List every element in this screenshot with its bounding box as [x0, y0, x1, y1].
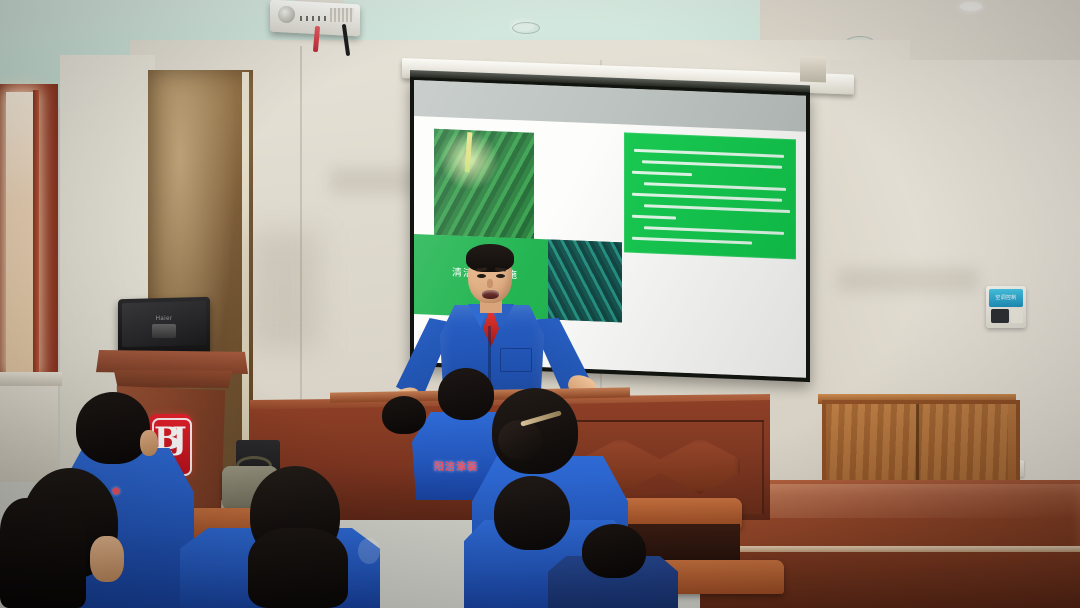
ceiling-vent-icon [512, 22, 540, 34]
slide-text-line [632, 215, 676, 220]
attendee-2-long-hair [248, 528, 348, 608]
slide-text-line [642, 160, 782, 169]
wall-shadow [838, 268, 978, 292]
slide-text-line [644, 226, 784, 235]
ac-side-plate [1011, 309, 1023, 323]
presenter-nose [487, 279, 493, 288]
wall-shadow [250, 230, 320, 350]
attendee-1-ear [140, 430, 158, 456]
slide-text-line [644, 182, 786, 191]
slide-text-line [632, 171, 692, 177]
lectern-neck [110, 370, 236, 388]
projector-buttons [300, 16, 330, 21]
slide-text-line [634, 149, 784, 158]
ac-keypad[interactable] [991, 309, 1009, 323]
slide-photo-bamboo [434, 129, 534, 239]
cabinet-door-seam [916, 404, 919, 488]
window-sill [0, 372, 62, 386]
attendee-3-head [438, 368, 494, 420]
attendee-back-head [382, 396, 426, 434]
attendee-3-uniform-text: 阳洁涂装 [420, 458, 492, 473]
projector-lens-icon [278, 6, 295, 23]
attendee-2-hair-tie [358, 538, 380, 564]
presenter-eye-right [496, 274, 505, 278]
monitor-brand-text: Haier [140, 316, 188, 322]
presenter-pocket [500, 348, 532, 372]
slide-bullet-box [624, 132, 796, 259]
downlight-icon [960, 2, 982, 11]
presenter-hair [466, 244, 514, 272]
slide-text-line [644, 204, 790, 213]
ac-display-text: 空调控制 [991, 294, 1021, 301]
slide-text-line [632, 237, 752, 245]
projector-vent-icon [330, 8, 354, 22]
slide-text-line [632, 193, 782, 202]
presenter-mouth [482, 290, 499, 299]
company-logo-letter-j: J [172, 424, 187, 455]
attendee-1-head [76, 392, 150, 464]
conference-hall-photo: 清洁生产措施 空调控 [0, 0, 1080, 608]
attendee-7-face-profile [90, 536, 124, 582]
attendee-6-head [582, 524, 646, 578]
presenter-eye-left [477, 274, 486, 278]
left-window-glass [6, 92, 36, 374]
attendee-4-hair-bun [498, 420, 542, 460]
attendee-5-head [494, 476, 570, 550]
screen-bracket [800, 56, 826, 83]
monitor-logo-icon [152, 324, 176, 338]
window-lower-wall [0, 386, 58, 482]
window-mullion [33, 90, 39, 380]
attendee-7-long-hair [0, 498, 86, 608]
pillar-trim [242, 72, 249, 492]
slide-photo-leaf [548, 239, 622, 322]
